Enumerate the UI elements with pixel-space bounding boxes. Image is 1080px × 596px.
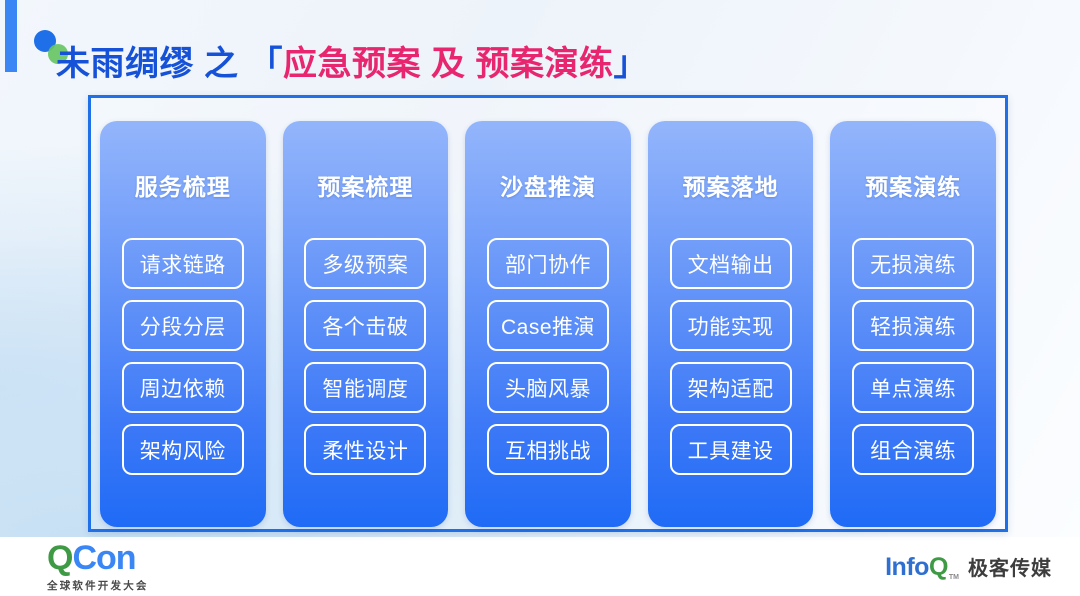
trademark-icon: TM [949, 574, 959, 581]
column-item[interactable]: 各个击破 [304, 300, 426, 351]
title-highlight-a: 应急预案 [283, 36, 421, 85]
title-connector: 之 [204, 36, 239, 85]
column-item[interactable]: Case推演 [487, 300, 609, 351]
infoq-wordmark: InfoQTM [885, 555, 959, 586]
column-header: 沙盘推演 [500, 168, 596, 202]
process-column-5[interactable]: 预案演练 无损演练 轻损演练 单点演练 组合演练 [830, 121, 996, 527]
title-highlight-b: 预案演练 [476, 36, 614, 85]
qcon-logo: QCon 全球软件开发大会 [47, 541, 149, 593]
column-item[interactable]: 文档输出 [670, 238, 792, 289]
infoq-chinese-name: 极客传媒 [968, 552, 1052, 581]
column-item[interactable]: 工具建设 [670, 424, 792, 475]
column-item[interactable]: 分段分层 [122, 300, 244, 351]
infoq-logo: InfoQTM 极客传媒 [885, 552, 1052, 586]
column-item[interactable]: 组合演练 [852, 424, 974, 475]
column-header: 预案梳理 [317, 168, 413, 202]
column-item[interactable]: 单点演练 [852, 362, 974, 413]
title-bracket-close: 」 [614, 36, 649, 85]
title-prefix: 未雨绸缪 [56, 36, 194, 85]
column-item[interactable]: 轻损演练 [852, 300, 974, 351]
column-item[interactable]: 架构风险 [122, 424, 244, 475]
column-item[interactable]: 无损演练 [852, 238, 974, 289]
column-header: 服务梳理 [135, 168, 231, 202]
infoq-letter-q: Q [929, 553, 948, 581]
column-items: 无损演练 轻损演练 单点演练 组合演练 [830, 238, 996, 485]
column-item[interactable]: 部门协作 [487, 238, 609, 289]
process-columns: 服务梳理 请求链路 分段分层 周边依赖 架构风险 预案梳理 多级预案 各个击破 … [100, 121, 996, 527]
qcon-letters-con: Con [72, 539, 135, 577]
qcon-subtitle: 全球软件开发大会 [47, 578, 149, 593]
column-item[interactable]: 头脑风暴 [487, 362, 609, 413]
column-items: 部门协作 Case推演 头脑风暴 互相挑战 [465, 238, 631, 485]
title-highlight-joiner: 及 [431, 36, 466, 85]
column-item[interactable]: 智能调度 [304, 362, 426, 413]
process-column-1[interactable]: 服务梳理 请求链路 分段分层 周边依赖 架构风险 [100, 121, 266, 527]
slide-canvas: 未雨绸缪 之 「 应急预案 及 预案演练 」 服务梳理 请求链路 分段分层 周边… [0, 0, 1080, 596]
column-header: 预案落地 [683, 168, 779, 202]
process-column-3[interactable]: 沙盘推演 部门协作 Case推演 头脑风暴 互相挑战 [465, 121, 631, 527]
infoq-letters-info: Info [885, 553, 929, 581]
process-column-2[interactable]: 预案梳理 多级预案 各个击破 智能调度 柔性设计 [283, 121, 449, 527]
title-accent-bar [5, 0, 17, 72]
column-header: 预案演练 [865, 168, 961, 202]
qcon-letter-q: Q [47, 539, 72, 577]
qcon-wordmark: QCon [47, 541, 149, 575]
column-item[interactable]: 多级预案 [304, 238, 426, 289]
column-items: 请求链路 分段分层 周边依赖 架构风险 [100, 238, 266, 485]
column-item[interactable]: 架构适配 [670, 362, 792, 413]
page-title: 未雨绸缪 之 「 应急预案 及 预案演练 」 [56, 35, 648, 87]
column-items: 多级预案 各个击破 智能调度 柔性设计 [283, 238, 449, 485]
column-items: 文档输出 功能实现 架构适配 工具建设 [648, 238, 814, 485]
column-item[interactable]: 互相挑战 [487, 424, 609, 475]
process-column-4[interactable]: 预案落地 文档输出 功能实现 架构适配 工具建设 [648, 121, 814, 527]
column-item[interactable]: 请求链路 [122, 238, 244, 289]
column-item[interactable]: 柔性设计 [304, 424, 426, 475]
column-item[interactable]: 功能实现 [670, 300, 792, 351]
title-bracket-open: 「 [249, 36, 284, 85]
column-item[interactable]: 周边依赖 [122, 362, 244, 413]
frame-top-accent-line [91, 95, 751, 98]
